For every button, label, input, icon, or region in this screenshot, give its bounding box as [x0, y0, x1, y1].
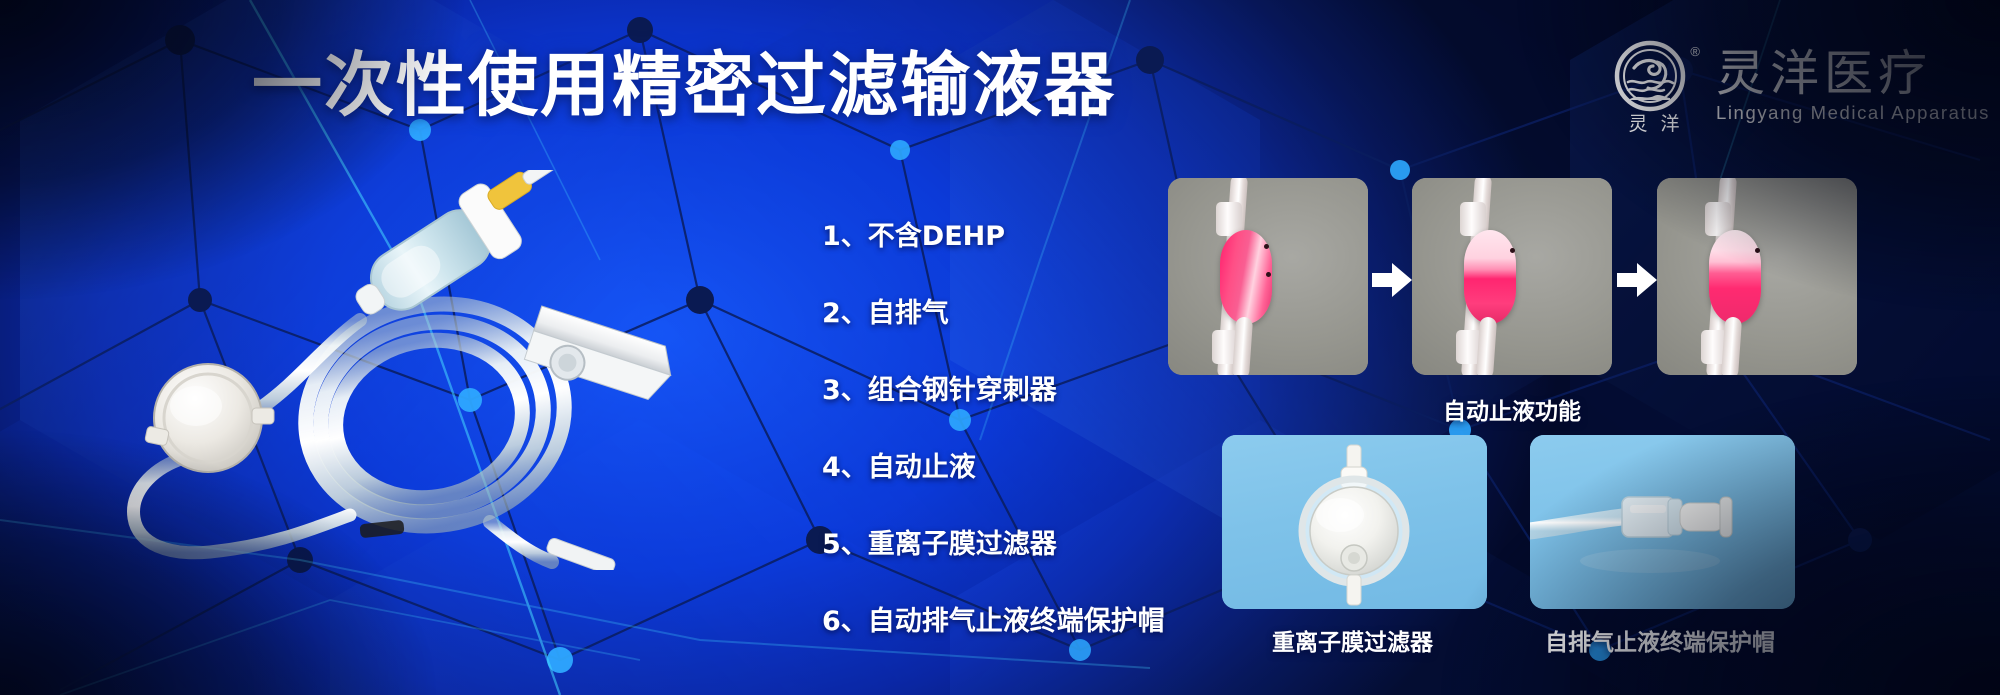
brand-text: 灵洋医疗 Lingyang Medical Apparatus — [1716, 48, 1990, 124]
sequence-frame-2 — [1412, 178, 1612, 375]
stop-chamber — [1709, 230, 1761, 324]
product-photo-terminal-cap — [1530, 435, 1795, 609]
right-arrow-icon — [1617, 262, 1657, 298]
sequence-frame-3 — [1657, 178, 1857, 375]
iv-set-illustration — [60, 170, 750, 570]
product-caption-terminal-cap: 自排气止液终端保护帽 — [1545, 623, 1775, 657]
marker-dot — [1755, 248, 1760, 253]
self-venting-terminal-cap-illustration — [1530, 435, 1795, 609]
inline-filter — [145, 364, 274, 472]
iv-infusion-set-photo — [60, 170, 750, 570]
heavy-ion-membrane-filter-illustration — [1222, 435, 1487, 609]
wave-circle-emblem-icon: ® 灵洋 — [1610, 38, 1698, 134]
emblem-caption: 灵洋 — [1610, 109, 1698, 136]
feature-item-2: 2、自排气 — [822, 299, 1165, 329]
sequence-caption: 自动止液功能 — [1443, 392, 1581, 426]
registered-trademark-icon: ® — [1690, 44, 1700, 59]
feature-item-4: 4、自动止液 — [822, 453, 1165, 483]
feature-item-6: 6、自动排气止液终端保护帽 — [822, 607, 1165, 637]
feature-item-3: 3、组合钢针穿刺器 — [822, 376, 1165, 406]
marker-dot — [1510, 248, 1515, 253]
product-photo-filter — [1222, 435, 1487, 609]
sequence-frame-1 — [1168, 178, 1368, 375]
company-name-en: Lingyang Medical Apparatus — [1716, 102, 1990, 124]
brand-logo[interactable]: ® 灵洋 灵洋医疗 Lingyang Medical Apparatus — [1610, 38, 1990, 134]
feature-item-1: 1、不含DEHP — [822, 222, 1165, 252]
marker-dot — [1266, 272, 1271, 277]
product-caption-filter: 重离子膜过滤器 — [1272, 623, 1433, 657]
marker-dot — [1264, 244, 1269, 249]
page-title: 一次性使用精密过滤输液器 — [252, 46, 1116, 124]
feature-item-5: 5、重离子膜过滤器 — [822, 530, 1165, 560]
emblem-svg — [1610, 38, 1698, 116]
feature-list: 1、不含DEHP 2、自排气 3、组合钢针穿刺器 4、自动止液 5、重离子膜过滤… — [822, 222, 1165, 637]
company-name-cn: 灵洋医疗 — [1716, 48, 1990, 100]
stop-chamber — [1464, 230, 1516, 324]
right-arrow-icon — [1372, 262, 1412, 298]
product-banner: 一次性使用精密过滤输液器 ® 灵洋 灵洋医疗 Lingyang Medical … — [0, 0, 2000, 695]
